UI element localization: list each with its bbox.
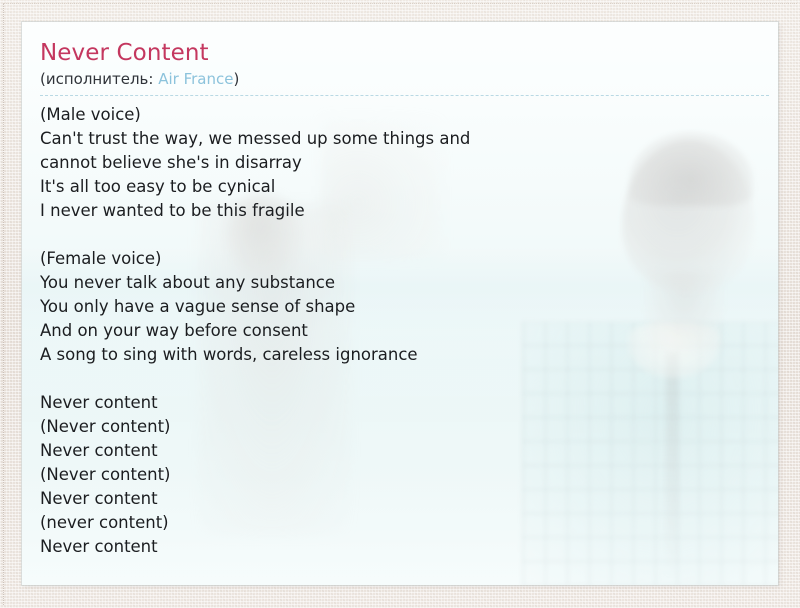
lyric-line: (Never content) [40,463,760,487]
song-title: Never Content [40,38,760,68]
lyric-line: (Never content) [40,415,760,439]
lyric-line: (Male voice) [40,103,760,127]
lyric-line: You never talk about any substance [40,271,760,295]
lyric-line: And on your way before consent [40,319,760,343]
byline-suffix-label: ) [233,70,239,88]
lyrics-text: (Male voice)Can't trust the way, we mess… [40,103,760,559]
lyric-line: (Female voice) [40,247,760,271]
lyric-line: A song to sing with words, careless igno… [40,343,760,367]
lyric-line: Never content [40,535,760,559]
lyric-line: Never content [40,487,760,511]
lyric-line: Never content [40,391,760,415]
lyric-line: cannot believe she's in disarray [40,151,760,175]
lyric-line: It's all too easy to be cynical [40,175,760,199]
lyric-line: (never content) [40,511,760,535]
lyric-line: Never content [40,439,760,463]
song-byline: (исполнитель: Air France) [40,69,769,96]
lyrics-card: Never Content (исполнитель: Air France) … [22,22,778,585]
lyric-blank-line [40,367,760,391]
lyric-line: I never wanted to be this fragile [40,199,760,223]
card-content: Never Content (исполнитель: Air France) … [22,22,778,559]
lyric-line: You only have a vague sense of shape [40,295,760,319]
lyric-blank-line [40,223,760,247]
lyric-line: Can't trust the way, we messed up some t… [40,127,760,151]
byline-prefix-label: (исполнитель: [40,70,158,88]
artist-link[interactable]: Air France [158,70,233,88]
